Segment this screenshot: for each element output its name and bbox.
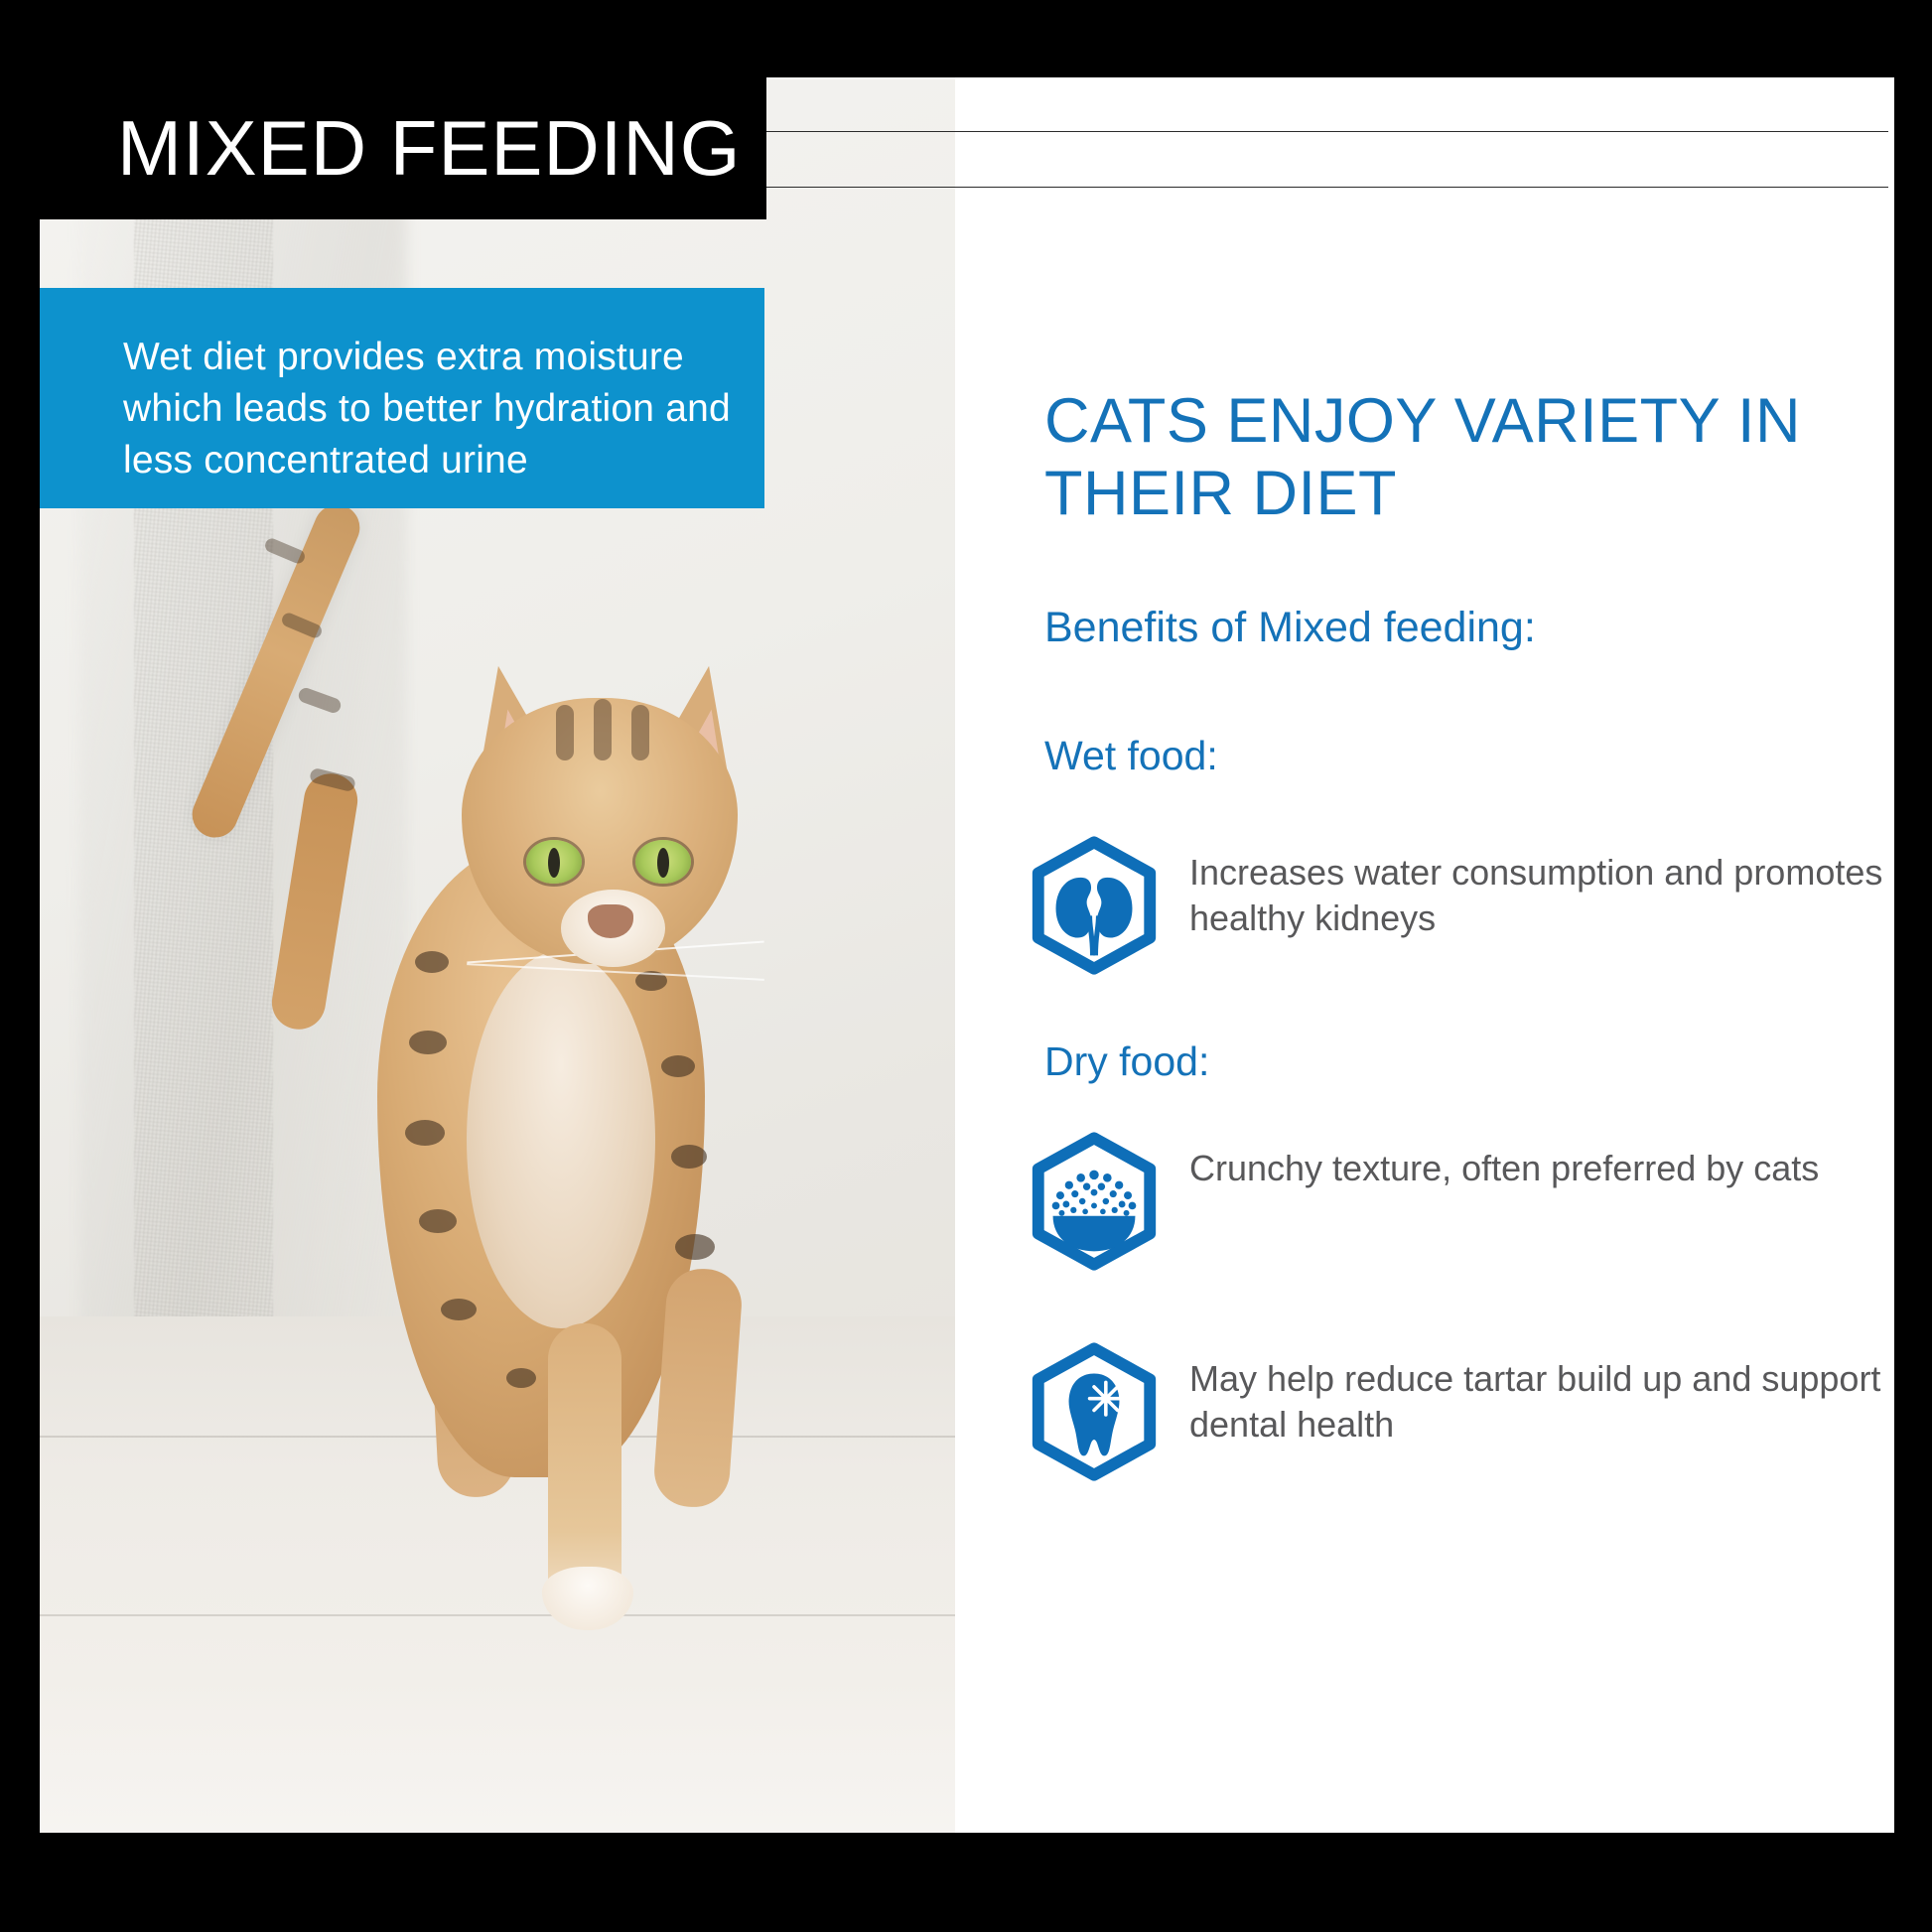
coat-spot <box>419 1209 457 1233</box>
cat-photo: Wet diet provides extra moisture which l… <box>40 77 955 1833</box>
cat-front-right-leg <box>652 1267 745 1510</box>
forehead-stripe <box>556 705 574 760</box>
section-title: CATS ENJOY VARIETY IN THEIR DIET <box>1044 385 1859 530</box>
coat-spot <box>671 1145 707 1169</box>
kibble-bowl-hexagon-icon <box>1021 1128 1168 1275</box>
page-title: MIXED FEEDING <box>40 103 741 194</box>
tooth-sparkle-hexagon-icon <box>1021 1338 1168 1485</box>
benefit-item: Increases water consumption and promotes… <box>1021 832 1884 979</box>
benefit-text: May help reduce tartar build up and supp… <box>1168 1338 1884 1448</box>
section-subtitle: Benefits of Mixed feeding: <box>1044 604 1536 652</box>
group-label-wet-food: Wet food: <box>1044 733 1218 779</box>
tail-stripe <box>263 536 307 565</box>
coat-spot <box>675 1234 715 1260</box>
header-block: MIXED FEEDING <box>40 77 766 219</box>
group-label-dry-food: Dry food: <box>1044 1038 1209 1085</box>
kidneys-hexagon-icon <box>1021 832 1168 979</box>
coat-spot <box>661 1055 695 1077</box>
forehead-stripe <box>594 699 612 760</box>
coat-spot <box>415 951 449 973</box>
wet-diet-caption-text: Wet diet provides extra moisture which l… <box>40 288 764 486</box>
content-card: Wet diet provides extra moisture which l… <box>40 77 1894 1833</box>
benefits-panel: CATS ENJOY VARIETY IN THEIR DIET Benefit… <box>993 77 1894 1833</box>
cat-front-paw <box>542 1567 633 1630</box>
benefit-text: Increases water consumption and promotes… <box>1168 832 1884 941</box>
cat-right-pupil <box>657 848 669 878</box>
benefit-item: Crunchy texture, often preferred by cats <box>1021 1128 1884 1275</box>
benefit-item: May help reduce tartar build up and supp… <box>1021 1338 1884 1485</box>
benefit-text: Crunchy texture, often preferred by cats <box>1168 1128 1819 1191</box>
poster-frame: Wet diet provides extra moisture which l… <box>0 0 1932 1932</box>
coat-spot <box>506 1368 536 1388</box>
tail-stripe <box>297 686 343 715</box>
coat-spot <box>405 1120 445 1146</box>
cat-left-pupil <box>548 848 560 878</box>
coat-spot <box>409 1031 447 1054</box>
forehead-stripe <box>631 705 649 760</box>
coat-spot <box>441 1299 477 1320</box>
cat-tail-lower <box>268 769 361 1033</box>
wet-diet-caption-box: Wet diet provides extra moisture which l… <box>40 288 764 508</box>
cat-chest <box>467 951 655 1328</box>
